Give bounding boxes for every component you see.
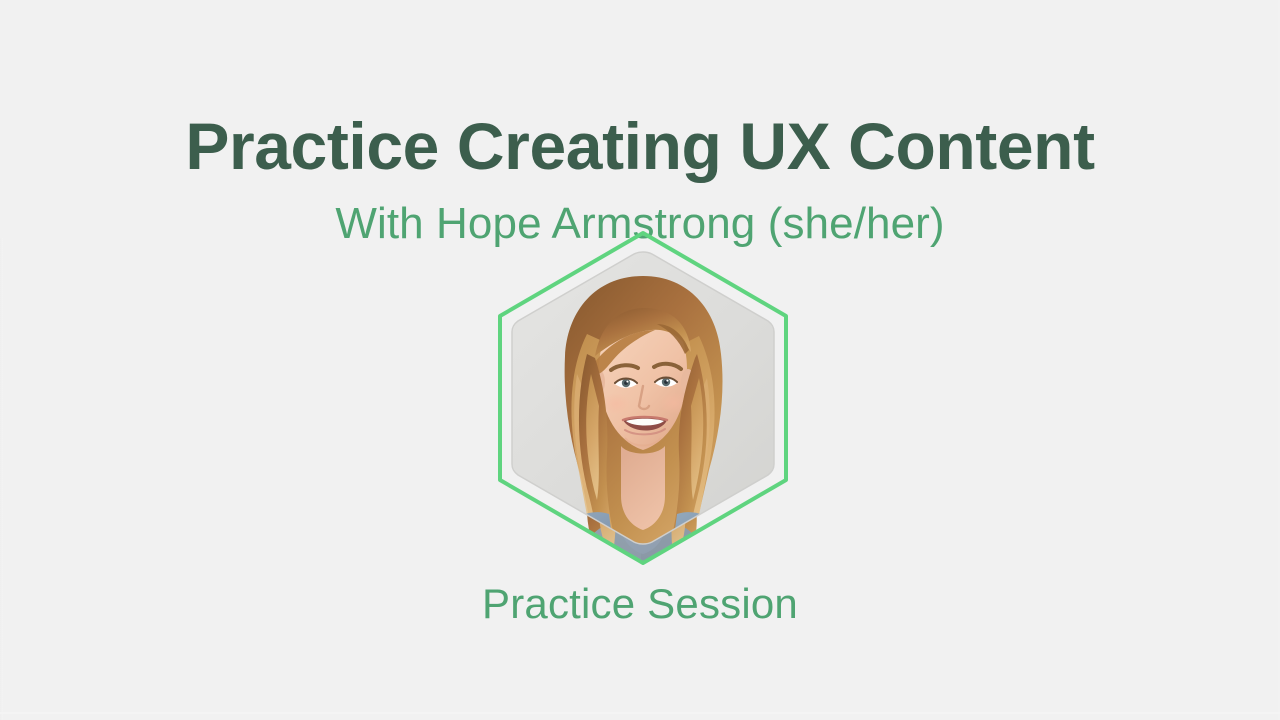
presentation-slide: Practice Creating UX Content With Hope A… [0,0,1280,720]
slide-caption: Practice Session [0,580,1280,628]
frame-edge-bottom [0,712,1280,714]
avatar [491,224,795,572]
frame-edge-left [0,238,3,720]
hexagon-avatar-graphic [491,224,795,572]
slide-title: Practice Creating UX Content [0,110,1280,184]
avatar-photo [491,224,795,572]
